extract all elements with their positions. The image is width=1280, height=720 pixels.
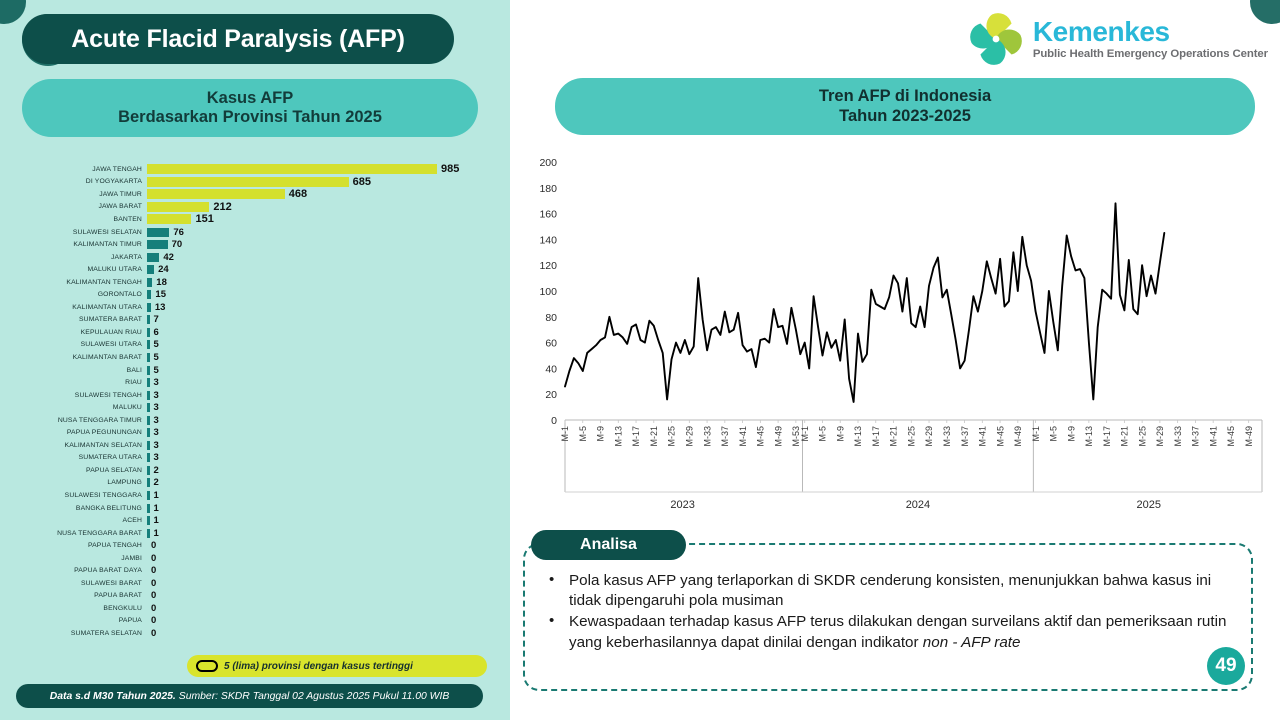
bar-category-label: KALIMANTAN BARAT <box>0 354 147 361</box>
bar-value-label: 0 <box>151 603 156 614</box>
bar-row: PAPUA BARAT0 <box>0 590 510 603</box>
bar-track: 468 <box>147 188 510 201</box>
bar-track: 3 <box>147 414 510 427</box>
bar-rect <box>147 214 191 224</box>
province-bar-chart: JAWA TENGAH985DI YOGYAKARTA685JAWA TIMUR… <box>0 163 510 658</box>
bar-value-label: 2 <box>154 477 159 488</box>
y-axis-tick-label: 120 <box>539 260 557 272</box>
x-axis-year-label: 2023 <box>670 499 694 511</box>
footer-source-text: Sumber: SKDR Tanggal 02 Agustus 2025 Puk… <box>179 691 450 702</box>
bar-row: BENGKULU0 <box>0 602 510 615</box>
left-panel: Acute Flacid Paralysis (AFP) Kasus AFP B… <box>0 0 510 720</box>
bar-track: 3 <box>147 426 510 439</box>
bar-value-label: 0 <box>151 578 156 589</box>
bar-rect <box>147 303 151 312</box>
bar-track: 1 <box>147 527 510 540</box>
x-axis-tick-label: M-41 <box>978 426 988 447</box>
decorative-circle-top-left-dark <box>0 0 26 24</box>
bar-track: 685 <box>147 176 510 189</box>
bar-value-label: 468 <box>289 188 307 200</box>
bar-rect <box>147 164 437 174</box>
bar-category-label: SULAWESI TENGGARA <box>0 492 147 499</box>
bar-category-label: GORONTALO <box>0 291 147 298</box>
bar-track: 0 <box>147 565 510 578</box>
bar-row: KALIMANTAN TIMUR70 <box>0 238 510 251</box>
page-number-badge: 49 <box>1207 647 1245 685</box>
bar-category-label: BANTEN <box>0 216 147 223</box>
line-chart-svg: 020406080100120140160180200M-1M-5M-9M-13… <box>520 150 1280 520</box>
bar-rect <box>147 328 150 337</box>
bar-row: PAPUA PEGUNUNGAN3 <box>0 426 510 439</box>
bar-track: 24 <box>147 263 510 276</box>
bar-row: SUMATERA BARAT7 <box>0 314 510 327</box>
x-axis-tick-label: M-9 <box>596 426 606 442</box>
bar-row: JAWA TENGAH985 <box>0 163 510 176</box>
legend-top5: 5 (lima) provinsi dengan kasus tertinggi <box>187 655 487 677</box>
bar-track: 18 <box>147 276 510 289</box>
line-chart-title-line2: Tahun 2023-2025 <box>839 107 971 127</box>
bar-category-label: MALUKU <box>0 404 147 411</box>
bar-value-label: 15 <box>155 289 166 300</box>
line-chart-title: Tren AFP di Indonesia Tahun 2023-2025 <box>555 78 1255 135</box>
bar-row: JAWA TIMUR468 <box>0 188 510 201</box>
y-axis-tick-label: 60 <box>545 338 557 350</box>
bar-value-label: 70 <box>172 239 183 250</box>
logo-tagline: Public Health Emergency Operations Cente… <box>1033 49 1268 60</box>
bar-track: 15 <box>147 288 510 301</box>
bar-category-label: PAPUA TENGAH <box>0 542 147 549</box>
y-axis-tick-label: 180 <box>539 183 557 195</box>
bar-value-label: 151 <box>195 213 213 225</box>
bar-rect <box>147 428 150 437</box>
bar-value-label: 0 <box>151 540 156 551</box>
legend-label: 5 (lima) provinsi dengan kasus tertinggi <box>224 661 413 672</box>
bar-rect <box>147 516 150 525</box>
bar-row: SULAWESI TENGGARA1 <box>0 489 510 502</box>
bar-category-label: SULAWESI TENGAH <box>0 392 147 399</box>
x-axis-tick-label: M-33 <box>1173 426 1183 447</box>
y-axis-tick-label: 0 <box>551 415 557 427</box>
bar-rect <box>147 290 151 299</box>
bar-value-label: 3 <box>154 440 159 451</box>
bar-row: DI YOGYAKARTA685 <box>0 176 510 189</box>
bar-rect <box>147 466 150 475</box>
bar-value-label: 5 <box>154 352 159 363</box>
bar-track: 2 <box>147 464 510 477</box>
bar-value-label: 0 <box>151 615 156 626</box>
bar-row: JAMBI0 <box>0 552 510 565</box>
bar-rect <box>147 315 150 324</box>
x-axis-tick-label: M-17 <box>631 426 641 447</box>
bar-track: 7 <box>147 314 510 327</box>
trend-line <box>565 203 1164 402</box>
analysis-list: Pola kasus AFP yang terlaporkan di SKDR … <box>539 571 1231 654</box>
bar-rect <box>147 366 150 375</box>
bar-row: SUMATERA SELATAN0 <box>0 627 510 640</box>
x-axis-tick-label: M-17 <box>871 426 881 447</box>
bar-row: KALIMANTAN UTARA13 <box>0 301 510 314</box>
x-axis-tick-label: M-1 <box>1031 426 1041 442</box>
bar-category-label: KALIMANTAN SELATAN <box>0 442 147 449</box>
analysis-label: Analisa <box>531 530 686 560</box>
x-axis-tick-label: M-37 <box>720 426 730 447</box>
bar-row: BALI5 <box>0 364 510 377</box>
x-axis-tick-label: M-49 <box>1013 426 1023 447</box>
x-axis-tick-label: M-1 <box>560 426 570 442</box>
bar-category-label: DI YOGYAKARTA <box>0 178 147 185</box>
x-axis-tick-label: M-41 <box>738 426 748 447</box>
x-axis-tick-label: M-5 <box>578 426 588 442</box>
x-axis-tick-label: M-13 <box>853 426 863 447</box>
bar-row: RIAU3 <box>0 376 510 389</box>
x-axis-tick-label: M-13 <box>1084 426 1094 447</box>
bar-value-label: 3 <box>154 402 159 413</box>
page-title-text: Acute Flacid Paralysis (AFP) <box>71 25 404 54</box>
x-axis-tick-label: M-41 <box>1208 426 1218 447</box>
analysis-item: Pola kasus AFP yang terlaporkan di SKDR … <box>539 571 1231 611</box>
legend-swatch-icon <box>196 660 218 672</box>
x-axis-tick-label: M-33 <box>702 426 712 447</box>
bar-category-label: ACEH <box>0 517 147 524</box>
bar-row: LAMPUNG2 <box>0 477 510 490</box>
bar-row: MALUKU UTARA24 <box>0 263 510 276</box>
bar-value-label: 0 <box>151 565 156 576</box>
bar-track: 0 <box>147 602 510 615</box>
bar-rect <box>147 353 150 362</box>
bar-value-label: 3 <box>154 427 159 438</box>
bar-category-label: KALIMANTAN TIMUR <box>0 241 147 248</box>
bar-value-label: 13 <box>155 302 166 313</box>
bar-rect <box>147 228 169 237</box>
bar-track: 3 <box>147 389 510 402</box>
y-axis-tick-label: 160 <box>539 209 557 221</box>
bar-track: 0 <box>147 615 510 628</box>
y-axis-tick-label: 140 <box>539 234 557 246</box>
bar-value-label: 1 <box>154 503 159 514</box>
bar-category-label: NUSA TENGGARA BARAT <box>0 530 147 537</box>
bar-value-label: 0 <box>151 553 156 564</box>
x-axis-year-label: 2024 <box>906 499 930 511</box>
bar-track: 5 <box>147 364 510 377</box>
bar-value-label: 685 <box>353 176 371 188</box>
bar-category-label: PAPUA PEGUNUNGAN <box>0 429 147 436</box>
bar-value-label: 76 <box>173 227 184 238</box>
footer-data-period: Data s.d M30 Tahun 2025. <box>50 691 176 702</box>
bar-track: 3 <box>147 452 510 465</box>
x-axis-tick-label: M-37 <box>960 426 970 447</box>
bar-category-label: MALUKU UTARA <box>0 266 147 273</box>
bar-category-label: BANGKA BELITUNG <box>0 505 147 512</box>
bar-value-label: 2 <box>154 465 159 476</box>
line-chart-title-line1: Tren AFP di Indonesia <box>819 87 991 107</box>
right-panel: Kemenkes Public Health Emergency Operati… <box>510 0 1280 720</box>
bar-category-label: SUMATERA BARAT <box>0 316 147 323</box>
bar-rect <box>147 202 209 212</box>
bar-rect <box>147 189 285 199</box>
bar-rect <box>147 504 150 513</box>
bar-value-label: 3 <box>154 377 159 388</box>
analysis-item-text: Kewaspadaan terhadap kasus AFP terus dil… <box>569 613 1226 650</box>
bar-category-label: JAMBI <box>0 555 147 562</box>
bar-category-label: PAPUA BARAT DAYA <box>0 567 147 574</box>
bar-value-label: 3 <box>154 390 159 401</box>
afp-trend-line-chart: 020406080100120140160180200M-1M-5M-9M-13… <box>520 150 1280 520</box>
bar-rect <box>147 265 154 274</box>
bar-rect <box>147 416 150 425</box>
bar-row: ACEH1 <box>0 514 510 527</box>
x-axis-tick-label: M-29 <box>924 426 934 447</box>
bar-rect <box>147 340 150 349</box>
bar-value-label: 3 <box>154 415 159 426</box>
x-axis-tick-label: M-21 <box>649 426 659 447</box>
bar-value-label: 1 <box>154 490 159 501</box>
bar-rect <box>147 491 150 500</box>
bar-row: KALIMANTAN TENGAH18 <box>0 276 510 289</box>
bar-value-label: 1 <box>154 528 159 539</box>
x-axis-tick-label: M-49 <box>773 426 783 447</box>
x-axis-tick-label: M-21 <box>889 426 899 447</box>
x-axis-tick-label: M-45 <box>995 426 1005 447</box>
bar-row: SULAWESI UTARA5 <box>0 339 510 352</box>
bar-rect <box>147 529 150 538</box>
x-axis-tick-label: M-13 <box>613 426 623 447</box>
y-axis-tick-label: 100 <box>539 286 557 298</box>
bar-track: 0 <box>147 552 510 565</box>
bar-category-label: PAPUA BARAT <box>0 592 147 599</box>
bar-rect <box>147 453 150 462</box>
bar-category-label: JAWA BARAT <box>0 203 147 210</box>
bar-row: MALUKU3 <box>0 401 510 414</box>
bar-row: NUSA TENGGARA BARAT1 <box>0 527 510 540</box>
bar-row: BANGKA BELITUNG1 <box>0 502 510 515</box>
bar-track: 76 <box>147 226 510 239</box>
x-axis-tick-label: M-45 <box>1226 426 1236 447</box>
bar-track: 985 <box>147 163 510 176</box>
slide-root: Acute Flacid Paralysis (AFP) Kasus AFP B… <box>0 0 1280 720</box>
bar-rect <box>147 391 150 400</box>
x-axis-tick-label: M-5 <box>818 426 828 442</box>
bar-rect <box>147 240 168 249</box>
bar-category-label: SULAWESI BARAT <box>0 580 147 587</box>
bar-category-label: SUMATERA SELATAN <box>0 630 147 637</box>
bar-chart-title: Kasus AFP Berdasarkan Provinsi Tahun 202… <box>22 79 478 137</box>
x-axis-tick-label: M-29 <box>1155 426 1165 447</box>
bar-row: PAPUA BARAT DAYA0 <box>0 565 510 578</box>
bar-row: SULAWESI TENGAH3 <box>0 389 510 402</box>
y-axis-tick-label: 40 <box>545 363 557 375</box>
x-axis-year-label: 2025 <box>1137 499 1161 511</box>
analysis-label-text: Analisa <box>580 536 637 554</box>
bar-track: 70 <box>147 238 510 251</box>
bar-row: JAKARTA42 <box>0 251 510 264</box>
x-axis-tick-label: M-25 <box>1137 426 1147 447</box>
x-axis-tick-label: M-21 <box>1120 426 1130 447</box>
x-axis-tick-label: M-49 <box>1244 426 1254 447</box>
x-axis-tick-label: M-45 <box>756 426 766 447</box>
bar-value-label: 24 <box>158 264 169 275</box>
bar-track: 0 <box>147 539 510 552</box>
bar-value-label: 6 <box>154 327 159 338</box>
y-axis-tick-label: 20 <box>545 389 557 401</box>
kemenkes-petal-icon <box>965 8 1027 70</box>
x-axis-tick-label: M-25 <box>667 426 677 447</box>
bar-category-label: SUMATERA UTARA <box>0 454 147 461</box>
bar-track: 1 <box>147 502 510 515</box>
bar-value-label: 0 <box>151 590 156 601</box>
logo-text-block: Kemenkes Public Health Emergency Operati… <box>1033 18 1268 60</box>
bar-category-label: SULAWESI UTARA <box>0 341 147 348</box>
bar-category-label: JAWA TIMUR <box>0 191 147 198</box>
bar-category-label: KALIMANTAN UTARA <box>0 304 147 311</box>
x-axis-tick-label: M-9 <box>1066 426 1076 442</box>
bar-row: BANTEN151 <box>0 213 510 226</box>
bar-value-label: 212 <box>213 201 231 213</box>
bar-track: 0 <box>147 577 510 590</box>
bar-category-label: JAKARTA <box>0 254 147 261</box>
bar-value-label: 42 <box>163 252 174 263</box>
x-axis-tick-label: M-1 <box>800 426 810 442</box>
bar-category-label: BALI <box>0 367 147 374</box>
bar-row: PAPUA SELATAN2 <box>0 464 510 477</box>
bar-chart-title-line2: Berdasarkan Provinsi Tahun 2025 <box>118 108 382 127</box>
bar-track: 13 <box>147 301 510 314</box>
y-axis-tick-label: 200 <box>539 157 557 169</box>
x-axis-tick-label: M-9 <box>835 426 845 442</box>
bar-row: SUMATERA UTARA3 <box>0 452 510 465</box>
bar-rect <box>147 441 150 450</box>
bar-value-label: 5 <box>154 339 159 350</box>
bar-value-label: 0 <box>151 628 156 639</box>
bar-track: 2 <box>147 477 510 490</box>
bar-row: NUSA TENGGARA TIMUR3 <box>0 414 510 427</box>
page-title: Acute Flacid Paralysis (AFP) <box>22 14 454 64</box>
bar-rect <box>147 478 150 487</box>
bar-rect <box>147 403 150 412</box>
bar-track: 3 <box>147 376 510 389</box>
bar-category-label: NUSA TENGGARA TIMUR <box>0 417 147 424</box>
bar-row: PAPUA0 <box>0 615 510 628</box>
y-axis-tick-label: 80 <box>545 312 557 324</box>
kemenkes-logo: Kemenkes Public Health Emergency Operati… <box>965 8 1268 70</box>
bar-row: GORONTALO15 <box>0 288 510 301</box>
bar-row: KALIMANTAN SELATAN3 <box>0 439 510 452</box>
bar-row: JAWA BARAT212 <box>0 201 510 214</box>
bar-category-label: KEPULAUAN RIAU <box>0 329 147 336</box>
x-axis-tick-label: M-33 <box>942 426 952 447</box>
logo-brand-name: Kemenkes <box>1033 18 1268 46</box>
bar-value-label: 5 <box>154 365 159 376</box>
bar-category-label: RIAU <box>0 379 147 386</box>
bar-track: 6 <box>147 326 510 339</box>
x-axis-tick-label: M-17 <box>1102 426 1112 447</box>
x-axis-tick-label: M-25 <box>906 426 916 447</box>
bar-track: 5 <box>147 351 510 364</box>
bar-category-label: PAPUA <box>0 617 147 624</box>
bar-track: 0 <box>147 627 510 640</box>
bar-category-label: LAMPUNG <box>0 479 147 486</box>
bar-track: 212 <box>147 201 510 214</box>
bar-chart-title-line1: Kasus AFP <box>207 89 294 108</box>
bar-value-label: 3 <box>154 452 159 463</box>
bar-value-label: 7 <box>154 314 159 325</box>
bar-category-label: BENGKULU <box>0 605 147 612</box>
bar-row: SULAWESI BARAT0 <box>0 577 510 590</box>
x-axis-tick-label: M-5 <box>1049 426 1059 442</box>
bar-rect <box>147 378 150 387</box>
bar-track: 0 <box>147 590 510 603</box>
analysis-item-emphasis: non - AFP rate <box>923 634 1021 651</box>
bar-track: 1 <box>147 489 510 502</box>
bar-row: KALIMANTAN BARAT5 <box>0 351 510 364</box>
bar-track: 5 <box>147 339 510 352</box>
footer-source: Data s.d M30 Tahun 2025. Sumber: SKDR Ta… <box>16 684 483 708</box>
bar-rect <box>147 177 349 187</box>
x-axis-tick-label: M-37 <box>1191 426 1201 447</box>
x-axis-tick-label: M-29 <box>685 426 695 447</box>
bar-value-label: 18 <box>156 277 167 288</box>
bar-row: SULAWESI SELATAN76 <box>0 226 510 239</box>
bar-row: PAPUA TENGAH0 <box>0 539 510 552</box>
bar-category-label: SULAWESI SELATAN <box>0 229 147 236</box>
bar-row: KEPULAUAN RIAU6 <box>0 326 510 339</box>
bar-category-label: JAWA TENGAH <box>0 166 147 173</box>
bar-rect <box>147 278 152 287</box>
bar-rect <box>147 253 159 262</box>
bar-track: 42 <box>147 251 510 264</box>
bar-track: 151 <box>147 213 510 226</box>
bar-track: 1 <box>147 514 510 527</box>
analysis-item: Kewaspadaan terhadap kasus AFP terus dil… <box>539 612 1231 652</box>
bar-track: 3 <box>147 401 510 414</box>
bar-value-label: 985 <box>441 163 459 175</box>
bar-category-label: KALIMANTAN TENGAH <box>0 279 147 286</box>
bar-track: 3 <box>147 439 510 452</box>
bar-category-label: PAPUA SELATAN <box>0 467 147 474</box>
analysis-box: Analisa Pola kasus AFP yang terlaporkan … <box>523 543 1253 691</box>
bar-value-label: 1 <box>154 515 159 526</box>
